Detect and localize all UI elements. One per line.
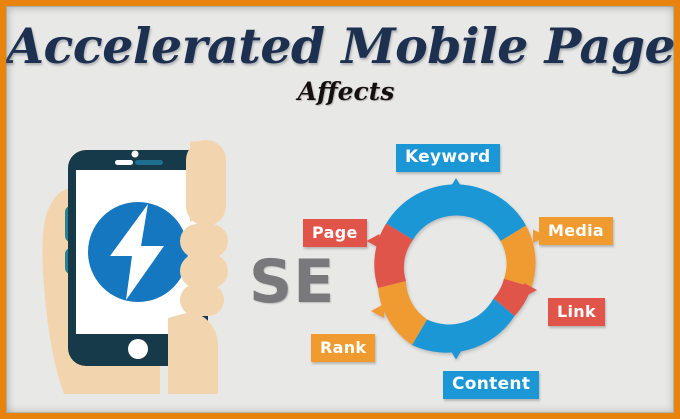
label-media[interactable]: Media bbox=[539, 217, 613, 245]
phone-speaker-right bbox=[135, 160, 163, 165]
phone-camera-dot bbox=[132, 151, 139, 158]
page-subtitle: Affects bbox=[6, 78, 680, 106]
label-page[interactable]: Page bbox=[303, 219, 367, 247]
seo-letters: SE bbox=[249, 252, 335, 312]
phone-in-hand-illustration bbox=[40, 132, 255, 394]
phone-home-button bbox=[128, 339, 148, 359]
infographic-poster: Accelerated Mobile Pages Affects bbox=[0, 0, 680, 419]
label-keyword[interactable]: Keyword bbox=[396, 144, 500, 172]
label-rank[interactable]: Rank bbox=[311, 334, 375, 362]
segment-page-notch bbox=[367, 234, 380, 248]
amp-lightning-bolt-icon bbox=[88, 202, 188, 302]
segment-keyword[interactable] bbox=[386, 184, 526, 241]
segment-rank-notch bbox=[371, 304, 384, 318]
segment-keyword-notch bbox=[449, 178, 463, 190]
title-block: Accelerated Mobile Pages Affects bbox=[6, 18, 680, 106]
segment-content-notch bbox=[449, 348, 463, 360]
label-link[interactable]: Link bbox=[548, 298, 605, 326]
label-content[interactable]: Content bbox=[443, 371, 539, 399]
page-title: Accelerated Mobile Pages bbox=[6, 18, 680, 74]
phone-speaker-left bbox=[115, 160, 133, 165]
segment-content[interactable] bbox=[412, 299, 515, 353]
